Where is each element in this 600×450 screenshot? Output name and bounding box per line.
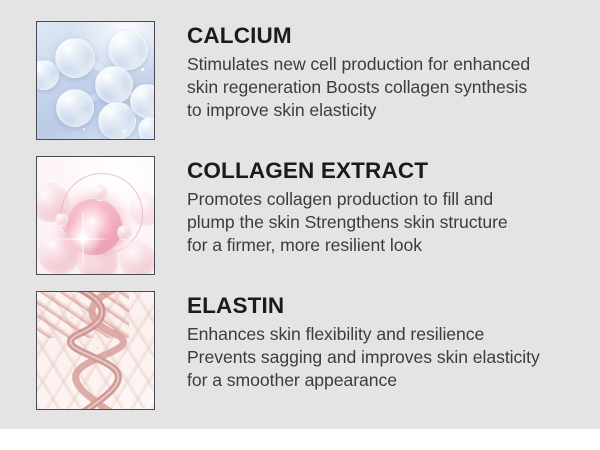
ingredient-description: Promotes collagen production to fill and…: [187, 188, 564, 258]
ingredient-row: ELASTIN Enhances skin flexibility and re…: [0, 291, 600, 410]
ingredient-title: ELASTIN: [187, 292, 564, 319]
bubble: [92, 185, 108, 201]
ingredient-description: Enhances skin flexibility and resilience…: [187, 323, 564, 393]
sparkle-dot: [141, 68, 144, 71]
ingredient-title: COLLAGEN EXTRACT: [187, 157, 564, 184]
calcium-molecules-image: [36, 21, 155, 140]
elastin-artwork: [37, 292, 154, 409]
ingredient-text: COLLAGEN EXTRACT Promotes collagen produ…: [155, 156, 600, 258]
sparkle-dot: [83, 128, 85, 130]
ingredient-text: ELASTIN Enhances skin flexibility and re…: [155, 291, 600, 393]
bubble: [55, 213, 68, 226]
ingredient-title: CALCIUM: [187, 22, 564, 49]
molecule-sphere: [56, 89, 94, 127]
molecule-sphere: [95, 66, 133, 104]
ingredient-text: CALCIUM Stimulates new cell production f…: [155, 21, 600, 123]
molecule-sphere: [108, 30, 148, 70]
ingredient-description: Stimulates new cell production for enhan…: [187, 53, 564, 123]
description-line: Promotes collagen production to fill and: [187, 188, 564, 211]
description-line: to improve skin elasticity: [187, 99, 564, 122]
description-line: Stimulates new cell production for enhan…: [187, 53, 564, 76]
description-line: Prevents sagging and improves skin elast…: [187, 346, 564, 369]
description-line: for a firmer, more resilient look: [187, 234, 564, 257]
ingredient-row: CALCIUM Stimulates new cell production f…: [0, 21, 600, 140]
fiber-grain: [37, 292, 154, 409]
ingredients-panel: CALCIUM Stimulates new cell production f…: [0, 0, 600, 429]
collagen-artwork: [37, 157, 154, 274]
description-line: for a smoother appearance: [187, 369, 564, 392]
molecule-sphere: [55, 38, 95, 78]
molecule-sphere: [98, 102, 136, 139]
description-line: Enhances skin flexibility and resilience: [187, 323, 564, 346]
light-flare: [61, 217, 105, 261]
sparkle-dot: [123, 130, 126, 133]
collagen-bubbles-image: [36, 156, 155, 275]
bubble: [119, 241, 154, 274]
ingredient-row: COLLAGEN EXTRACT Promotes collagen produ…: [0, 156, 600, 275]
molecule-sphere: [138, 117, 154, 139]
calcium-artwork: [37, 22, 154, 139]
elastin-fiber-image: [36, 291, 155, 410]
bubble: [117, 225, 132, 240]
description-line: skin regeneration Boosts collagen synthe…: [187, 76, 564, 99]
description-line: plump the skin Strengthens skin structur…: [187, 211, 564, 234]
